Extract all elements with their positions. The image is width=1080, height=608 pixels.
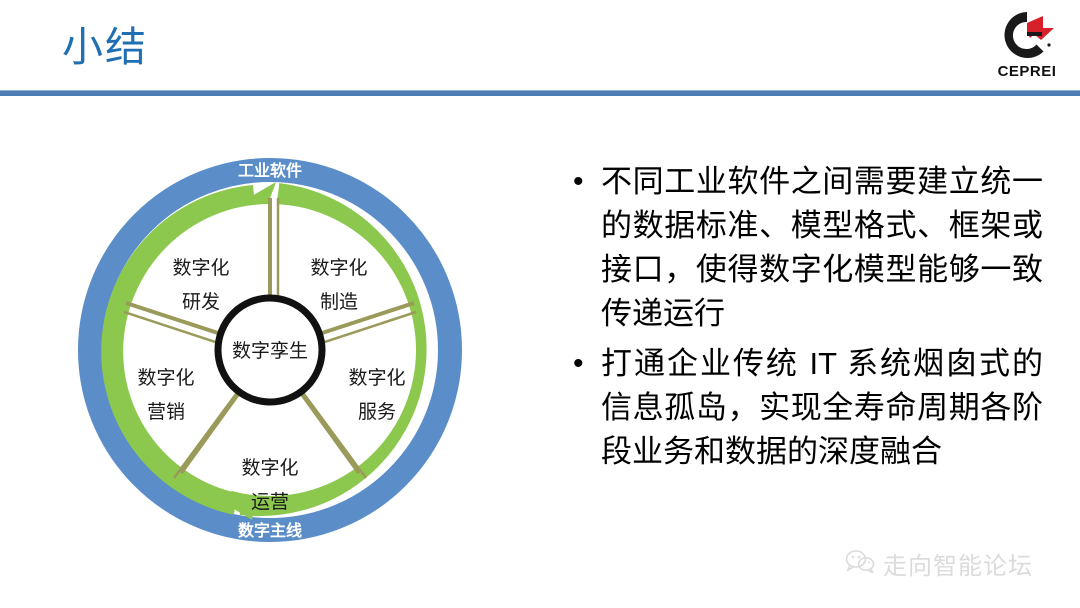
wechat-icon [845, 549, 875, 578]
bullet-marker-2: • [573, 342, 601, 386]
digital-twin-wheel-diagram: 工业软件 数字主线 工业软件 数字主线 数字化 制造 数字化 服务 数字化 运营… [66, 146, 474, 554]
segment-0-line1: 数字化 [310, 257, 367, 279]
bullet-text-2: 打通企业传统 IT 系统烟囱式的信息孤岛，实现全寿命周期各阶段业务和数据的深度融… [601, 342, 1043, 474]
inner-ring-label-plain: 数字主线 [238, 521, 302, 540]
segment-4-line2: 研发 [182, 291, 220, 313]
segment-2-line2: 运营 [251, 491, 289, 513]
segment-3-line1: 数字化 [137, 367, 194, 389]
watermark: 走向智能论坛 [845, 546, 1033, 581]
segment-0-line2: 制造 [320, 291, 358, 313]
slide-header: 小结 [0, 0, 1080, 95]
page-title: 小结 [62, 22, 148, 72]
summary-bullet-list: • 不同工业软件之间需要建立统一的数据标准、模型格式、框架或接口，使得数字化模型… [573, 160, 1043, 480]
segment-3-line2: 营销 [147, 401, 185, 423]
ceprei-logo: CEPREI [986, 6, 1068, 86]
segment-2-line1: 数字化 [241, 457, 298, 479]
watermark-text: 走向智能论坛 [883, 546, 1033, 581]
bullet-item-2: • 打通企业传统 IT 系统烟囱式的信息孤岛，实现全寿命周期各阶段业务和数据的深… [573, 342, 1043, 474]
segment-1-line1: 数字化 [348, 367, 405, 389]
outer-ring-label-plain: 工业软件 [238, 161, 302, 180]
segment-4-line1: 数字化 [172, 257, 229, 279]
bullet-item-1: • 不同工业软件之间需要建立统一的数据标准、模型格式、框架或接口，使得数字化模型… [573, 160, 1043, 336]
hub-label: 数字孪生 [232, 340, 308, 362]
segment-1-line2: 服务 [358, 401, 396, 423]
bullet-text-1: 不同工业软件之间需要建立统一的数据标准、模型格式、框架或接口，使得数字化模型能够… [601, 160, 1043, 336]
ceprei-mark-icon [986, 6, 1068, 64]
header-divider [0, 90, 1080, 96]
bullet-marker-1: • [573, 160, 601, 204]
ceprei-logo-text: CEPREI [986, 63, 1068, 80]
